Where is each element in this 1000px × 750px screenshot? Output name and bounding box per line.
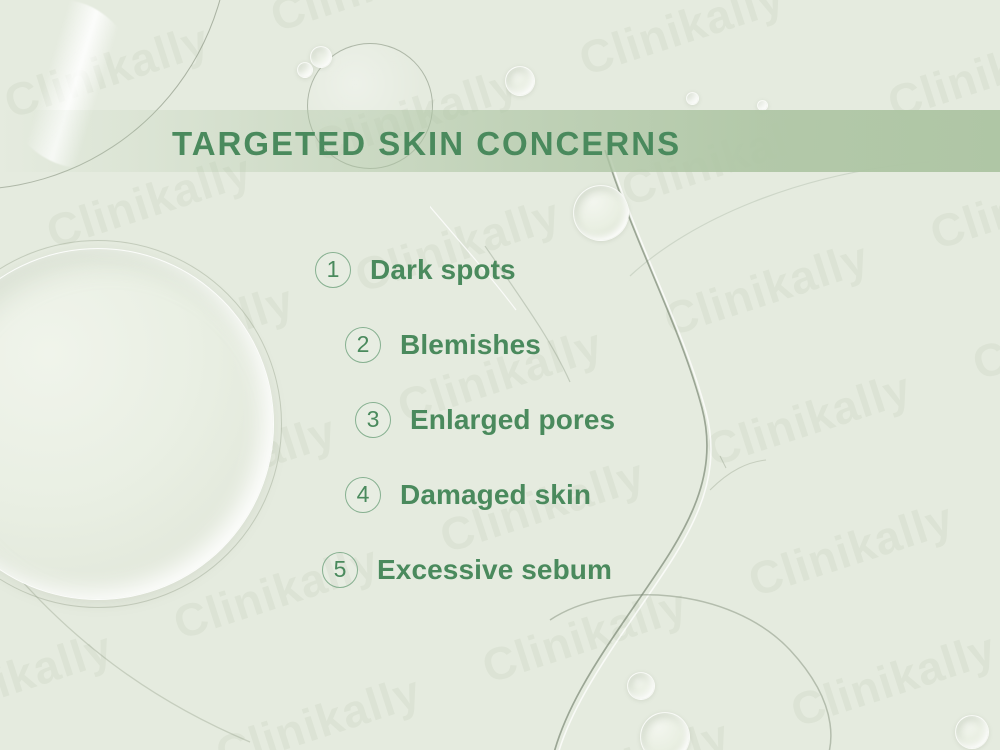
bubble-small-b xyxy=(297,62,313,78)
concern-label: Dark spots xyxy=(370,254,516,286)
concern-number-badge: 5 xyxy=(322,552,358,588)
watermark-text: Clinikally xyxy=(572,0,790,86)
slide-canvas: ClinikallyClinikallyClinikallyClinikally… xyxy=(0,0,1000,750)
concern-row: 5Excessive sebum xyxy=(0,532,1000,607)
bubble-small-a xyxy=(310,46,332,68)
concern-number-badge: 2 xyxy=(345,327,381,363)
concern-row: 4Damaged skin xyxy=(0,457,1000,532)
concern-number-badge: 1 xyxy=(315,252,351,288)
bubble-small-e xyxy=(627,672,655,700)
concern-label: Damaged skin xyxy=(400,479,591,511)
concern-label: Enlarged pores xyxy=(410,404,615,436)
concern-row: 1Dark spots xyxy=(0,232,1000,307)
concern-row: 3Enlarged pores xyxy=(0,382,1000,457)
concern-number-badge: 4 xyxy=(345,477,381,513)
bubble-small-g xyxy=(955,715,989,749)
bubble-small-c xyxy=(505,66,535,96)
concern-label: Blemishes xyxy=(400,329,541,361)
concern-label: Excessive sebum xyxy=(377,554,612,586)
concern-row: 2Blemishes xyxy=(0,307,1000,382)
watermark-text: Clinikally xyxy=(264,0,482,43)
concerns-list: 1Dark spots2Blemishes3Enlarged pores4Dam… xyxy=(0,232,1000,607)
page-title: TARGETED SKIN CONCERNS xyxy=(172,125,681,163)
concern-number-badge: 3 xyxy=(355,402,391,438)
bubble-tiny-h xyxy=(686,92,699,105)
